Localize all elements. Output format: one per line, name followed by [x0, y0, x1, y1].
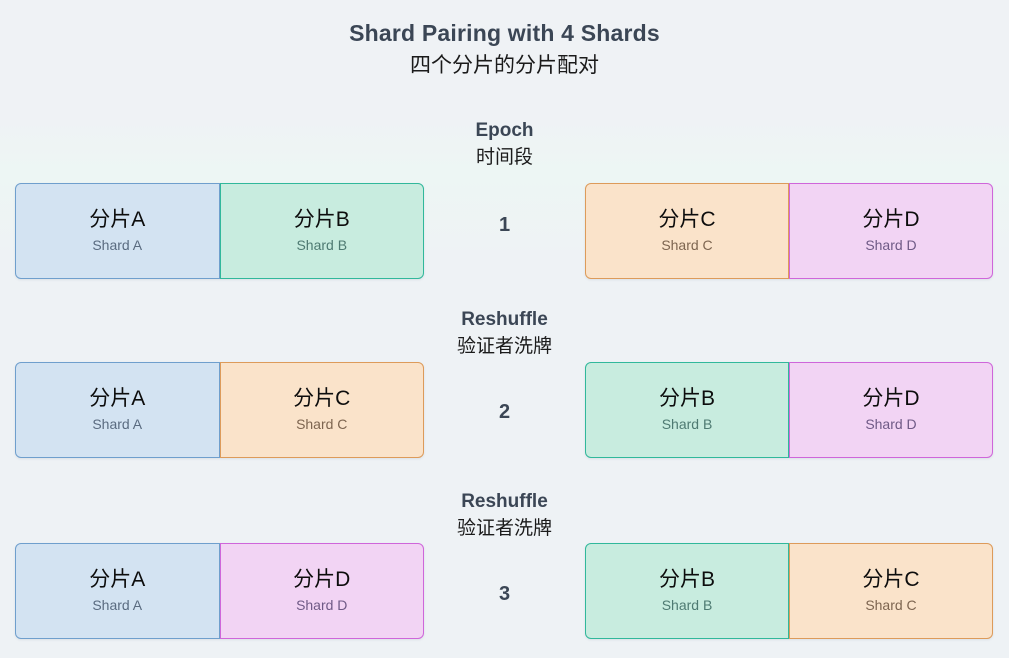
reshuffle-label-chinese: 验证者洗牌 [424, 333, 585, 361]
shard-box[interactable]: 分片D Shard D [789, 183, 993, 279]
shard-label-english: Shard D [296, 595, 347, 615]
shard-box[interactable]: 分片B Shard B [585, 362, 789, 458]
epoch-row-3: 分片A Shard A 分片D Shard D 分片B Shard B 分片C … [0, 543, 1009, 639]
title-chinese: 四个分片的分片配对 [0, 50, 1009, 82]
shard-label-english: Shard A [92, 235, 142, 255]
shard-label-english: Shard A [92, 595, 142, 615]
shard-pair-right: 分片B Shard B 分片D Shard D [585, 362, 993, 458]
reshuffle-label-chinese: 验证者洗牌 [424, 515, 585, 543]
title-english: Shard Pairing with 4 Shards [0, 18, 1009, 48]
shard-pair-right: 分片C Shard C 分片D Shard D [585, 183, 993, 279]
shard-label-chinese: 分片B [659, 386, 715, 412]
shard-box[interactable]: 分片B Shard B [220, 183, 425, 279]
shard-label-chinese: 分片D [862, 207, 919, 233]
epoch-row-2: 分片A Shard A 分片C Shard C 分片B Shard B 分片D … [0, 362, 1009, 458]
diagram-title: Shard Pairing with 4 Shards 四个分片的分片配对 [0, 18, 1009, 82]
shard-pair-right: 分片B Shard B 分片C Shard C [585, 543, 993, 639]
epoch-label-chinese: 时间段 [424, 144, 585, 172]
shard-label-english: Shard B [296, 235, 347, 255]
shard-label-english: Shard C [661, 235, 712, 255]
shard-box[interactable]: 分片A Shard A [15, 362, 220, 458]
shard-label-chinese: 分片C [293, 386, 350, 412]
shard-label-english: Shard D [865, 235, 916, 255]
shard-box[interactable]: 分片D Shard D [220, 543, 425, 639]
shard-label-english: Shard D [865, 414, 916, 434]
shard-label-english: Shard C [865, 595, 916, 615]
shard-label-english: Shard C [296, 414, 347, 434]
shard-label-chinese: 分片C [862, 567, 919, 593]
epoch-row-1: 分片A Shard A 分片B Shard B 分片C Shard C 分片D … [0, 183, 1009, 279]
shard-box[interactable]: 分片D Shard D [789, 362, 993, 458]
shard-box[interactable]: 分片A Shard A [15, 543, 220, 639]
shard-box[interactable]: 分片C Shard C [585, 183, 789, 279]
shard-label-english: Shard A [92, 414, 142, 434]
shard-box[interactable]: 分片C Shard C [220, 362, 425, 458]
shard-box[interactable]: 分片A Shard A [15, 183, 220, 279]
shard-label-chinese: 分片A [89, 207, 145, 233]
shard-label-english: Shard B [662, 595, 713, 615]
shard-label-chinese: 分片C [658, 207, 715, 233]
shard-box[interactable]: 分片B Shard B [585, 543, 789, 639]
shard-label-chinese: 分片D [293, 567, 350, 593]
reshuffle-label-english: Reshuffle [424, 489, 585, 515]
shard-label-chinese: 分片B [294, 207, 350, 233]
shard-label-chinese: 分片B [659, 567, 715, 593]
shard-label-english: Shard B [662, 414, 713, 434]
shard-pair-left: 分片A Shard A 分片C Shard C [15, 362, 424, 458]
shard-pair-left: 分片A Shard A 分片B Shard B [15, 183, 424, 279]
shard-label-chinese: 分片D [862, 386, 919, 412]
shard-label-chinese: 分片A [89, 386, 145, 412]
shard-box[interactable]: 分片C Shard C [789, 543, 993, 639]
shard-label-chinese: 分片A [89, 567, 145, 593]
reshuffle-label-english: Reshuffle [424, 307, 585, 333]
epoch-label-english: Epoch [424, 118, 585, 144]
shard-pair-left: 分片A Shard A 分片D Shard D [15, 543, 424, 639]
